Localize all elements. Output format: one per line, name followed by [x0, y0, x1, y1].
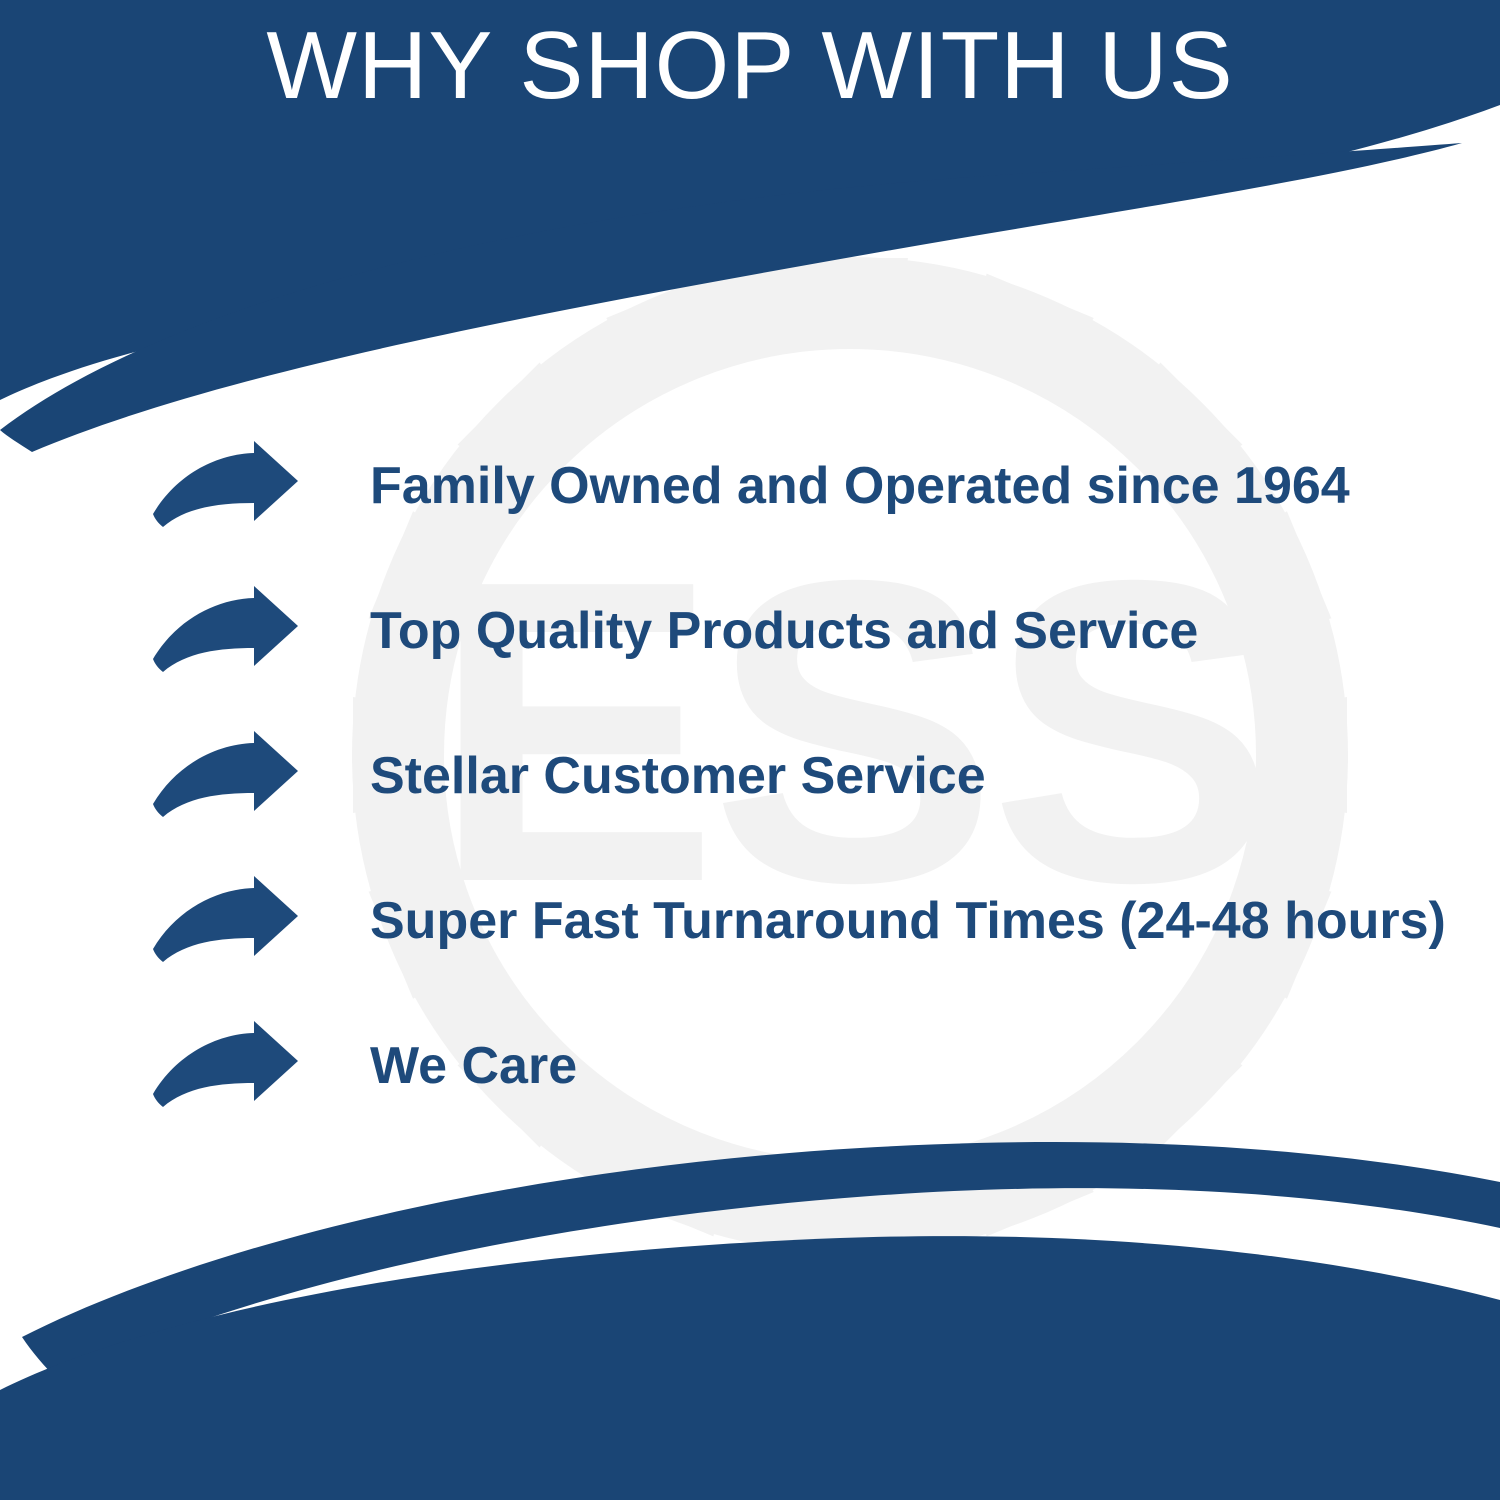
curved-arrow-right-icon [150, 876, 300, 968]
benefit-label: Super Fast Turnaround Times (24-48 hours… [300, 893, 1446, 950]
list-item: Stellar Customer Service [150, 722, 1410, 832]
curved-arrow-right-icon [150, 1021, 300, 1113]
why-shop-with-us-poster: ESS WHY SHOP WITH US Family Owned and Op… [0, 0, 1500, 1500]
benefit-label: Family Owned and Operated since 1964 [300, 458, 1410, 515]
header: WHY SHOP WITH US [0, 0, 1500, 150]
footer-band-shape [0, 1236, 1500, 1500]
curved-arrow-right-icon [150, 586, 300, 678]
list-item: Top Quality Products and Service [150, 577, 1410, 687]
benefit-label: We Care [300, 1038, 1410, 1095]
bottom-accent-crescent [22, 1142, 1500, 1380]
list-item: We Care [150, 1012, 1410, 1122]
page-title: WHY SHOP WITH US [266, 0, 1233, 118]
benefit-label: Stellar Customer Service [300, 748, 1410, 805]
curved-arrow-right-icon [150, 441, 300, 533]
top-accent-crescent [0, 143, 1462, 452]
list-item: Super Fast Turnaround Times (24-48 hours… [150, 867, 1410, 977]
benefits-list: Family Owned and Operated since 1964 Top… [150, 432, 1410, 1122]
benefit-label: Top Quality Products and Service [300, 603, 1410, 660]
list-item: Family Owned and Operated since 1964 [150, 432, 1410, 542]
curved-arrow-right-icon [150, 731, 300, 823]
